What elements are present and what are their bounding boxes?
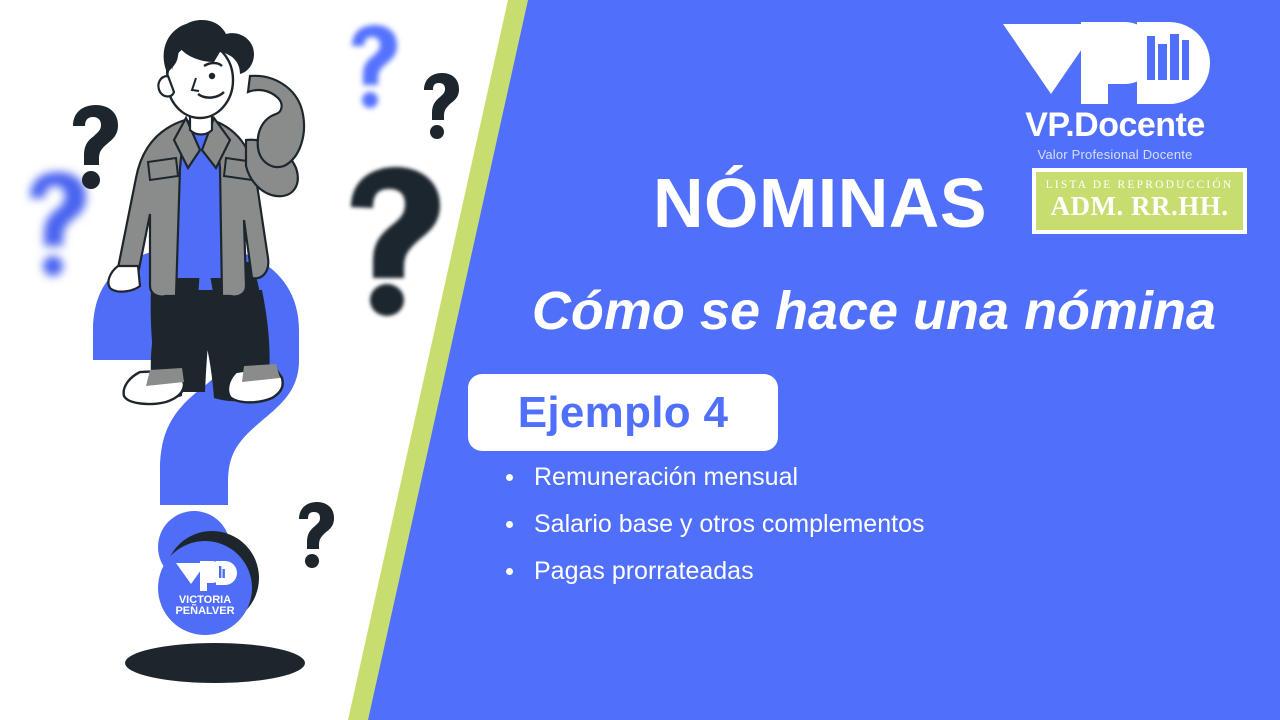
- right-content-panel: VP.Docente Valor Profesional Docente LIS…: [440, 0, 1280, 720]
- list-item: Salario base y otros complementos: [498, 512, 1198, 537]
- list-item-label: Remuneración mensual: [534, 463, 798, 491]
- slide-root: VICTORIA PEÑALVER: [0, 0, 1280, 720]
- bullet-dot-icon: [506, 474, 513, 481]
- blurred-blue-question-mark-top: [352, 25, 397, 108]
- list-item: Remuneración mensual: [498, 465, 1198, 490]
- shoe-left: [124, 368, 184, 404]
- brand-tagline: Valor Profesional Docente: [980, 147, 1250, 162]
- topic-list: Remuneración mensual Salario base y otro…: [498, 465, 1198, 606]
- vpd-logo-mark: [995, 18, 1235, 106]
- page-title: NÓMINAS: [510, 168, 1130, 238]
- floor-shadow: [125, 643, 305, 683]
- list-item: Pagas prorrateadas: [498, 559, 1198, 584]
- blurred-blue-question-mark-left: [30, 172, 86, 276]
- bullet-dot-icon: [506, 521, 513, 528]
- brand-logo-block: VP.Docente Valor Profesional Docente: [980, 18, 1250, 162]
- dark-question-mark-bottom: [299, 502, 334, 568]
- page-subtitle: Cómo se hace una nómina: [468, 283, 1280, 340]
- bullet-dot-icon: [506, 568, 513, 575]
- list-item-label: Salario base y otros complementos: [534, 510, 924, 538]
- example-chip: Ejemplo 4: [468, 374, 778, 451]
- list-item-label: Pagas prorrateadas: [534, 557, 754, 585]
- dark-question-mark-left: [73, 105, 118, 189]
- svg-text:PEÑALVER: PEÑALVER: [175, 604, 234, 617]
- brand-name: VP.Docente: [980, 108, 1250, 144]
- dark-question-mark-big: [351, 167, 440, 316]
